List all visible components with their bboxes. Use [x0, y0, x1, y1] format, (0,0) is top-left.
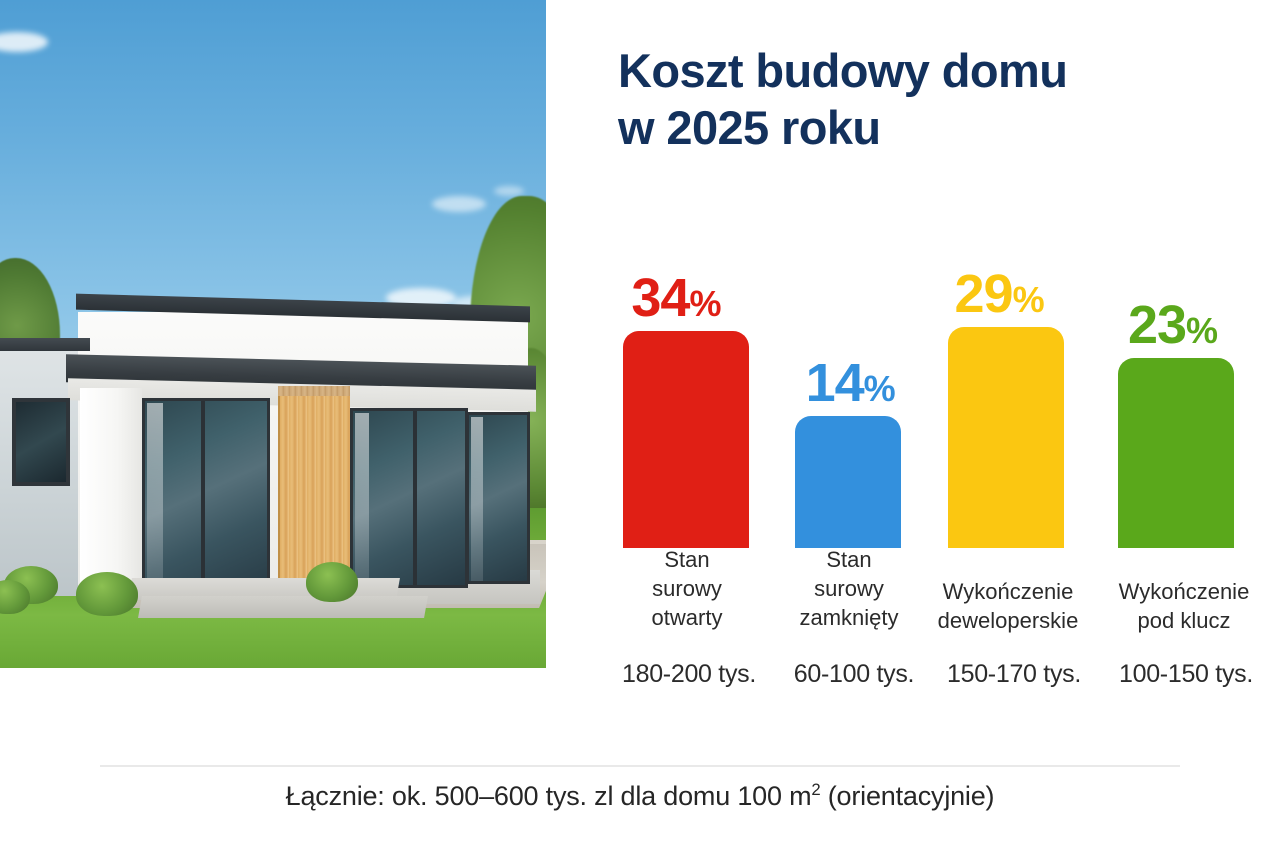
window-reflection [147, 403, 163, 591]
bar-chart: 34% 14% 29% 23% [546, 228, 1280, 548]
category-label-0: Stan surowy otwarty [608, 545, 766, 632]
bar-value-label-3: 23% [1128, 298, 1217, 358]
bar-value-number-3: 23 [1128, 295, 1186, 355]
cost-range-1: 60-100 tys. [774, 660, 934, 689]
cloud-icon [432, 196, 486, 212]
roof-edge-left [0, 338, 90, 351]
bar-value-number-2: 29 [954, 264, 1012, 324]
cost-range-row: 180-200 tys. 60-100 tys. 150-170 tys. 10… [546, 660, 1280, 700]
category-label-0-line1: Stan [608, 545, 766, 574]
bar-column-0[interactable]: 34% [623, 331, 749, 548]
category-labels: Stan surowy otwarty Stan surowy zamknięt… [546, 545, 1280, 645]
bar-value-label-1: 14% [806, 356, 895, 416]
bar-2[interactable] [948, 327, 1064, 548]
infographic-panel: Koszt budowy domu w 2025 roku 34% 14% 29… [546, 0, 1280, 720]
category-label-1-line3: zamknięty [774, 603, 924, 632]
window-side-small [12, 398, 70, 486]
bar-value-label-2: 29% [954, 267, 1043, 327]
cost-range-3: 100-150 tys. [1098, 660, 1274, 689]
percent-sign-3: % [1186, 310, 1217, 351]
category-label-3-line2: pod klucz [1098, 606, 1270, 635]
percent-sign-0: % [689, 283, 720, 324]
bar-column-1[interactable]: 14% [795, 416, 901, 548]
category-label-3: Wykończenie pod klucz [1098, 577, 1270, 635]
bar-1[interactable] [795, 416, 901, 548]
bar-value-label-0: 34% [631, 271, 720, 331]
category-label-1-line1: Stan [774, 545, 924, 574]
window-mullion [201, 401, 205, 591]
page-title: Koszt budowy domu w 2025 roku [618, 42, 1258, 157]
window-mullion [413, 411, 417, 585]
footer-summary-prefix: Łącznie: ok. 500–600 tys. zl dla domu 10… [286, 781, 812, 811]
percent-sign-1: % [864, 368, 895, 409]
house-photo [0, 0, 546, 668]
footer-summary: Łącznie: ok. 500–600 tys. zl dla domu 10… [0, 780, 1280, 812]
facade-pillar [80, 388, 142, 594]
cost-range-2: 150-170 tys. [928, 660, 1100, 689]
bar-value-number-0: 34 [631, 268, 689, 328]
bush [306, 562, 358, 602]
entrance-step-lower [138, 596, 428, 618]
window-right [466, 412, 530, 584]
footer-summary-suffix: (orientacyjnie) [820, 781, 994, 811]
window-reflection [355, 413, 369, 585]
category-label-2-line1: Wykończenie [918, 577, 1098, 606]
category-label-0-line2: surowy [608, 574, 766, 603]
bar-3[interactable] [1118, 358, 1234, 548]
page-title-line2: w 2025 roku [618, 99, 1258, 156]
percent-sign-2: % [1013, 279, 1044, 320]
footer-divider [100, 765, 1180, 767]
bar-0[interactable] [623, 331, 749, 548]
category-label-1: Stan surowy zamknięty [774, 545, 924, 632]
page-title-line1: Koszt budowy domu [618, 42, 1258, 99]
bush [76, 572, 138, 616]
category-label-3-line1: Wykończenie [1098, 577, 1270, 606]
category-label-2-line2: deweloperskie [918, 606, 1098, 635]
bar-column-2[interactable]: 29% [948, 327, 1064, 548]
cost-range-0: 180-200 tys. [598, 660, 780, 689]
window-left [142, 398, 270, 594]
category-label-0-line3: otwarty [608, 603, 766, 632]
category-label-1-line2: surowy [774, 574, 924, 603]
cloud-icon [494, 186, 524, 196]
window-center-right [350, 408, 468, 588]
bar-column-3[interactable]: 23% [1118, 358, 1234, 548]
window-reflection [471, 417, 483, 581]
bar-value-number-1: 14 [806, 353, 864, 413]
category-label-2: Wykończenie deweloperskie [918, 577, 1098, 635]
